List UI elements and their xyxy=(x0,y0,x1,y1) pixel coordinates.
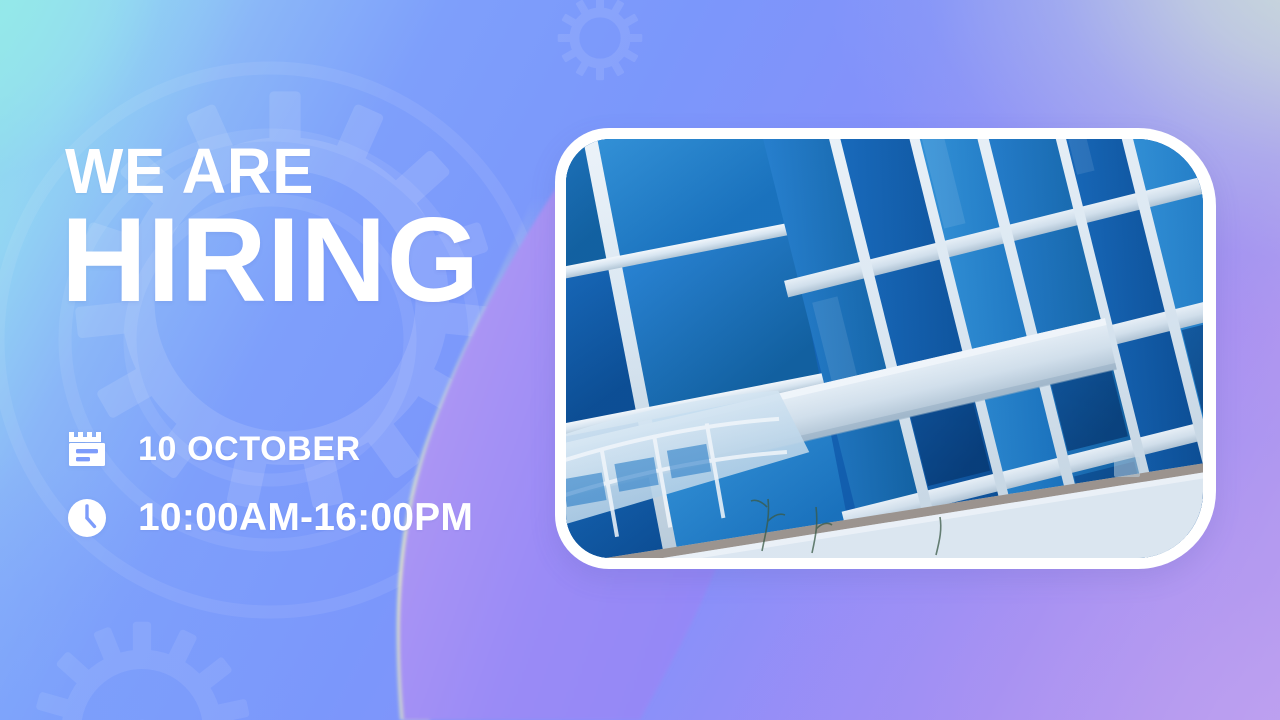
event-details-block: 10 OCTOBER 10:00AM-16:00PM xyxy=(66,428,586,540)
photo-card xyxy=(555,128,1216,569)
clock-icon xyxy=(66,497,108,539)
detail-row-time: 10:00AM-16:00PM xyxy=(66,496,586,540)
headline-block: WE ARE HIRING xyxy=(65,146,585,312)
headline-line-1: WE ARE xyxy=(65,146,567,197)
building-photo xyxy=(566,139,1203,558)
headline-line-2: HIRING xyxy=(61,209,580,312)
detail-row-date: 10 OCTOBER xyxy=(66,428,586,470)
event-date-label: 10 OCTOBER xyxy=(138,430,361,469)
calendar-icon xyxy=(66,428,108,470)
event-time-label: 10:00AM-16:00PM xyxy=(138,496,473,540)
hiring-banner: WE ARE HIRING 10 OCTOBER xyxy=(0,0,1280,720)
